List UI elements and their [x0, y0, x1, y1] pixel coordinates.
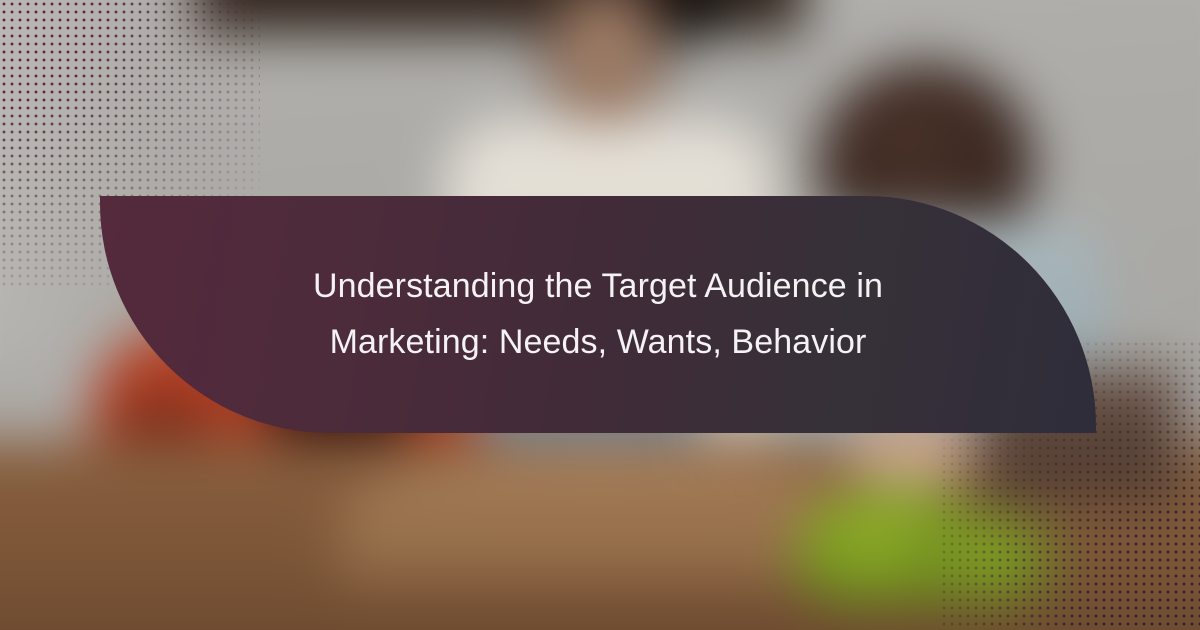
title-banner: Understanding the Target Audience in Mar… [100, 196, 1096, 433]
background-plant-secondary [915, 515, 1055, 605]
background-table-front [340, 445, 860, 585]
social-card: Understanding the Target Audience in Mar… [0, 0, 1200, 630]
page-title: Understanding the Target Audience in Mar… [218, 259, 978, 369]
